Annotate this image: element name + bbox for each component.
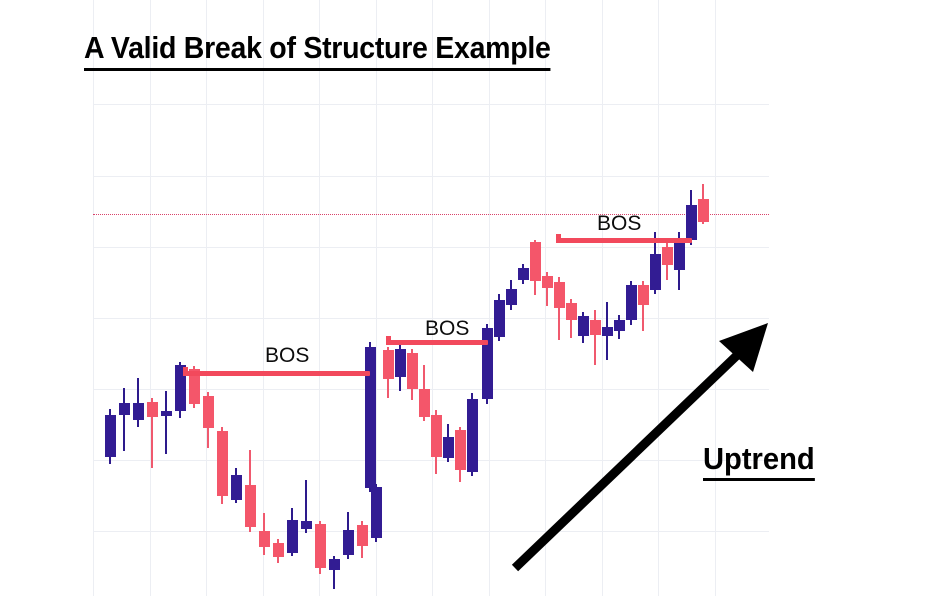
candle-body: [203, 396, 214, 428]
candle-body: [301, 521, 312, 529]
candlestick: [383, 347, 394, 398]
candle-body: [357, 525, 368, 546]
candlestick: [530, 240, 541, 295]
candle-body: [133, 403, 144, 420]
candle-body: [217, 431, 228, 496]
candle-body: [662, 247, 673, 265]
candle-body: [482, 328, 493, 399]
grid-line-vertical: [319, 0, 320, 596]
candle-body: [329, 559, 340, 570]
candlestick: [455, 427, 466, 482]
candle-body: [650, 254, 661, 290]
candle-body: [431, 415, 442, 457]
candle-body: [542, 276, 553, 288]
candlestick: [542, 272, 553, 306]
grid-line-vertical: [489, 0, 490, 596]
candlestick: [395, 345, 406, 391]
candle-body: [554, 282, 565, 308]
candle-body: [467, 399, 478, 472]
candlestick: [506, 280, 517, 310]
candle-body: [698, 199, 709, 222]
candlestick: [365, 342, 376, 492]
bos-level-line: [183, 371, 370, 376]
candle-wick: [165, 391, 167, 454]
candlestick: [686, 190, 697, 245]
candle-wick: [123, 388, 125, 451]
candlestick: [119, 388, 130, 451]
bos-label-3: BOS: [597, 213, 641, 234]
candlestick: [443, 424, 454, 462]
candle-body: [161, 411, 172, 416]
candle-body: [259, 531, 270, 547]
candle-body: [119, 403, 130, 415]
candlestick: [287, 508, 298, 556]
candlestick: [203, 392, 214, 448]
grid-line-horizontal: [93, 104, 769, 105]
candle-body: [530, 242, 541, 281]
candlestick: [273, 539, 284, 563]
candlestick: [133, 378, 144, 427]
bos-level-line: [556, 238, 692, 243]
grid-line-vertical: [263, 0, 264, 596]
candlestick: [231, 468, 242, 503]
candlestick: [371, 484, 382, 542]
price-level-dotted-line: [93, 214, 769, 215]
candle-body: [371, 487, 382, 538]
candle-body: [245, 485, 256, 527]
candlestick: [482, 324, 493, 404]
candle-body: [105, 415, 116, 457]
candle-body: [686, 205, 697, 240]
candlestick: [662, 240, 673, 280]
candlestick: [217, 427, 228, 504]
grid-line-horizontal: [93, 176, 769, 177]
candlestick: [259, 513, 270, 555]
candlestick: [315, 521, 326, 574]
candlestick: [161, 391, 172, 454]
candle-body: [273, 543, 284, 557]
candlestick: [698, 184, 709, 224]
candle-body: [343, 530, 354, 555]
candlestick: [407, 349, 418, 400]
candle-body: [315, 524, 326, 568]
candlestick: [147, 398, 158, 468]
candle-body: [443, 437, 454, 458]
candle-body: [638, 285, 649, 305]
candlestick: [518, 264, 529, 284]
grid-line-vertical: [432, 0, 433, 596]
grid-line-vertical: [93, 0, 94, 596]
bos-line-left-cap: [183, 367, 188, 376]
candlestick: [105, 409, 116, 464]
candle-body: [231, 475, 242, 500]
candle-body: [419, 389, 430, 417]
candle-body: [395, 349, 406, 377]
candle-body: [383, 350, 394, 379]
candle-body: [147, 402, 158, 417]
candlestick: [431, 410, 442, 474]
candlestick: [357, 521, 368, 558]
bos-label-2: BOS: [425, 318, 469, 339]
candle-body: [365, 347, 376, 488]
bos-line-left-cap: [556, 234, 561, 243]
candlestick: [419, 365, 430, 421]
candle-body: [518, 268, 529, 280]
candlestick: [301, 480, 312, 533]
candlestick: [343, 512, 354, 559]
candlestick: [245, 450, 256, 532]
candlestick: [467, 393, 478, 476]
candle-body: [455, 430, 466, 470]
grid-line-vertical: [206, 0, 207, 596]
bos-level-line: [386, 340, 488, 345]
page-title: A Valid Break of Structure Example: [84, 30, 551, 71]
bos-label-1: BOS: [265, 345, 309, 366]
candlestick: [329, 556, 340, 589]
uptrend-label: Uptrend: [703, 441, 815, 481]
chart-screenshot: BOSBOSBOS A Valid Break of Structure Exa…: [0, 0, 948, 596]
bos-line-left-cap: [386, 336, 391, 345]
candle-body: [407, 353, 418, 389]
grid-line-vertical: [150, 0, 151, 596]
candle-body: [506, 289, 517, 305]
candle-body: [287, 520, 298, 553]
